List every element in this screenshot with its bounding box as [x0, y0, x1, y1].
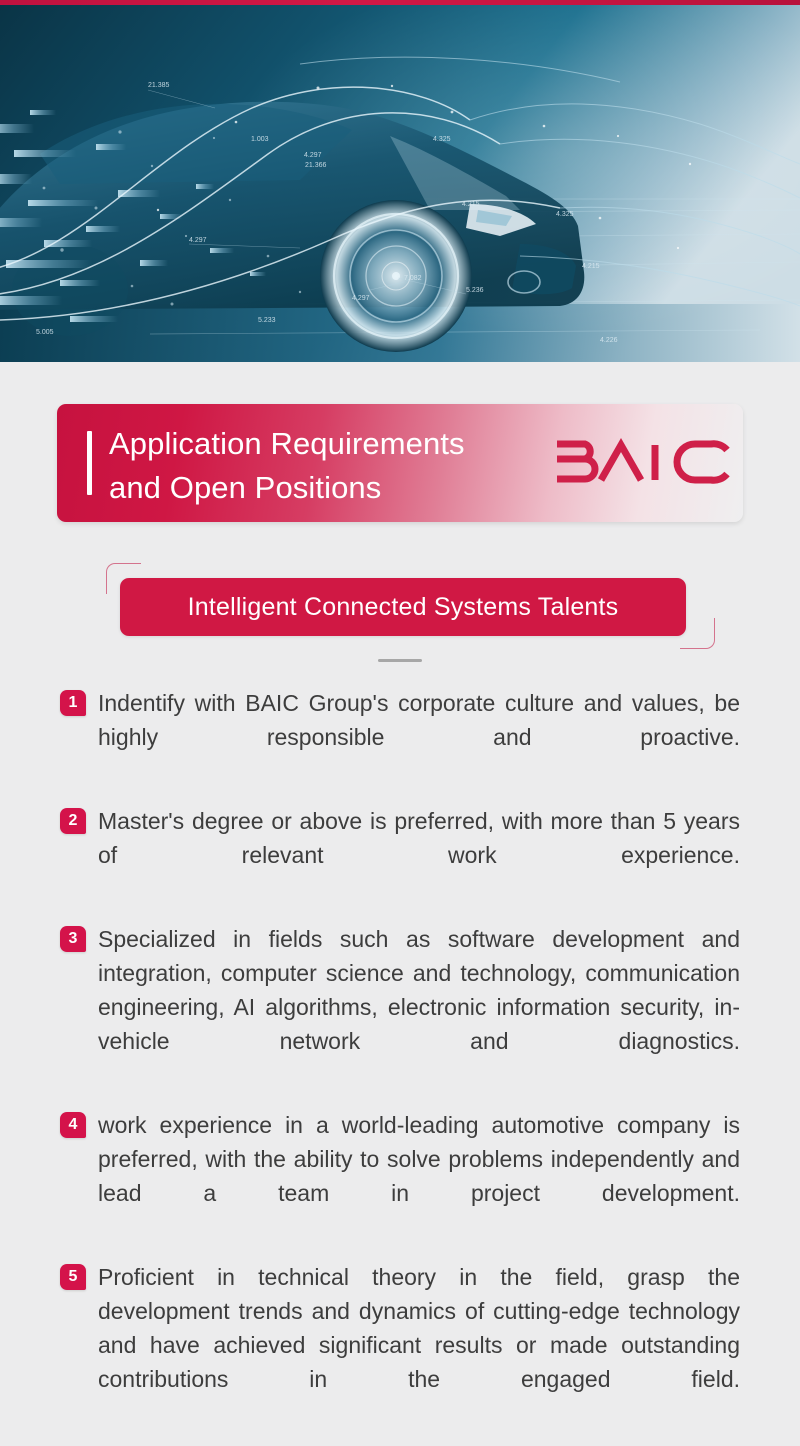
list-item-text: work experience in a world-leading autom…	[98, 1108, 740, 1244]
list-item: 2 Master's degree or above is preferred,…	[0, 804, 800, 906]
section-title-label: Intelligent Connected Systems Talents	[188, 593, 619, 622]
banner-accent-bar	[87, 431, 92, 495]
list-item: 4 work experience in a world-leading aut…	[0, 1108, 800, 1244]
baic-logo-mark: BAIC	[551, 437, 733, 487]
hero-data-label: 4.215	[582, 263, 600, 270]
page-title-banner: Application Requirements and Open Positi…	[57, 404, 743, 522]
top-accent-strip	[0, 0, 800, 5]
hero-data-label: 4.297	[352, 295, 370, 302]
hero-data-label: 21.366	[305, 162, 327, 169]
list-item-text: Specialized in fields such as software d…	[98, 922, 740, 1092]
list-item-number-badge: 1	[60, 690, 86, 716]
hero-data-label: 4.325	[556, 211, 574, 218]
list-item-number-badge: 2	[60, 808, 86, 834]
list-item: 3 Specialized in fields such as software…	[0, 922, 800, 1092]
list-item-text: Indentify with BAIC Group's corporate cu…	[98, 686, 740, 788]
list-item-text: Master's degree or above is preferred, w…	[98, 804, 740, 906]
list-item: 1 Indentify with BAIC Group's corporate …	[0, 686, 800, 788]
hero-data-label: 5.233	[258, 317, 276, 324]
list-item-number-badge: 4	[60, 1112, 86, 1138]
requirements-list: 1 Indentify with BAIC Group's corporate …	[0, 686, 800, 1446]
hero-data-label: 4.325	[433, 136, 451, 143]
hero-data-label: 21.385	[148, 82, 170, 89]
list-item: 5 Proficient in technical theory in the …	[0, 1260, 800, 1430]
list-item-number-badge: 5	[60, 1264, 86, 1290]
hero-data-label: 5.236	[466, 287, 484, 294]
hero-data-label: 5.005	[36, 329, 54, 336]
banner-surface: Application Requirements and Open Positi…	[57, 404, 743, 522]
list-item-text: Proficient in technical theory in the fi…	[98, 1260, 740, 1430]
list-item-number-badge: 3	[60, 926, 86, 952]
hero-data-label: 4.297	[304, 152, 322, 159]
section-divider	[378, 659, 422, 662]
hero-banner-image: 21.385 21.366 4.297 4.325 4.215 4.215 4.…	[0, 4, 800, 362]
baic-logo: BAIC	[551, 437, 733, 487]
page-title: Application Requirements and Open Positi…	[109, 422, 579, 510]
section-title-pill: Intelligent Connected Systems Talents	[120, 578, 686, 636]
hero-data-label: 7.082	[404, 275, 422, 282]
hero-illustration: 21.385 21.366 4.297 4.325 4.215 4.215 4.…	[0, 4, 800, 362]
hero-data-label: 4.215	[462, 201, 480, 208]
section-header: Intelligent Connected Systems Talents	[0, 558, 800, 666]
hero-data-label: 4.226	[600, 337, 618, 344]
hero-data-label: 1.003	[251, 136, 269, 143]
hero-data-label: 4.297	[189, 237, 207, 244]
